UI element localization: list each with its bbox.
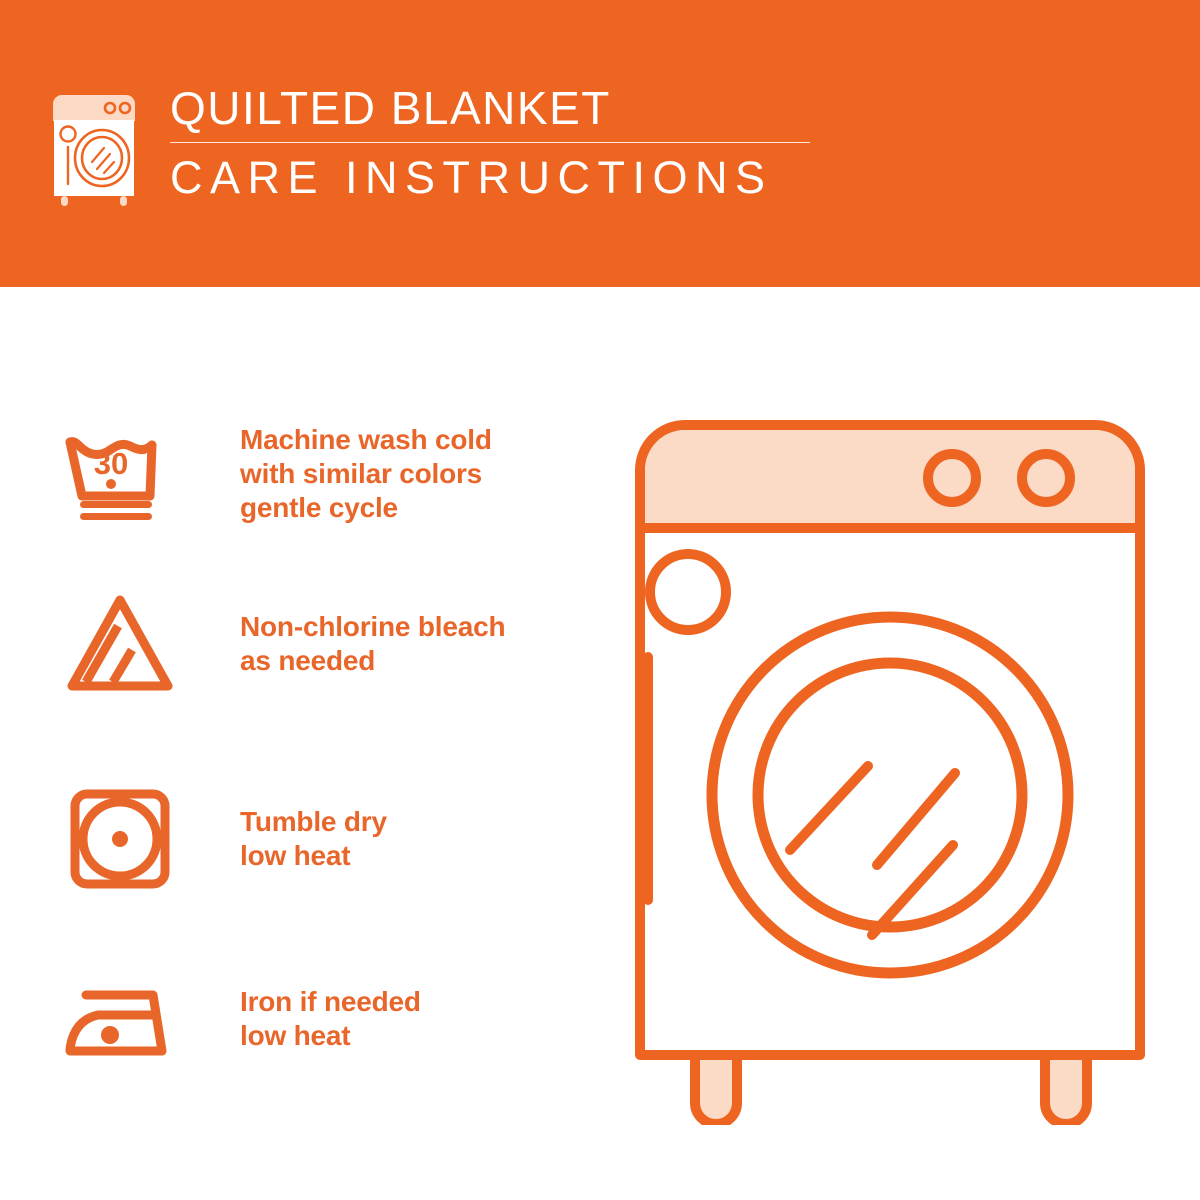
washing-machine-icon	[52, 84, 148, 210]
foot-left	[695, 1055, 737, 1124]
iron-low-heat-icon	[58, 957, 182, 1081]
care-instruction-item: Iron if needed low heat	[58, 957, 578, 1081]
care-instruction-item: Non-chlorine bleach as needed	[58, 582, 578, 706]
page-title: QUILTED BLANKET	[170, 82, 810, 134]
care-instruction-label: Iron if needed low heat	[240, 985, 421, 1053]
care-instructions-list: 30 Machine wash cold with similar colors…	[0, 287, 600, 1200]
non-chlorine-bleach-triangle-icon	[58, 582, 182, 706]
wash-tub-30-gentle-icon: 30	[58, 412, 182, 536]
care-instruction-item: 30 Machine wash cold with similar colors…	[58, 412, 578, 536]
header-banner: QUILTED BLANKET CARE INSTRUCTIONS	[0, 0, 1200, 287]
title-block: QUILTED BLANKET CARE INSTRUCTIONS	[170, 78, 810, 203]
header-content: QUILTED BLANKET CARE INSTRUCTIONS	[52, 78, 810, 210]
care-instruction-label: Machine wash cold with similar colors ge…	[240, 423, 492, 525]
tumble-dry-low-heat-icon	[58, 777, 182, 901]
care-instruction-label: Tumble dry low heat	[240, 805, 387, 873]
title-divider	[170, 142, 810, 143]
foot-right	[1045, 1055, 1087, 1124]
wash-temperature-value: 30	[94, 446, 128, 481]
care-instruction-label: Non-chlorine bleach as needed	[240, 610, 505, 678]
page-subtitle: CARE INSTRUCTIONS	[170, 153, 810, 203]
washing-machine-illustration	[600, 395, 1180, 1125]
care-instruction-item: Tumble dry low heat	[58, 777, 578, 901]
